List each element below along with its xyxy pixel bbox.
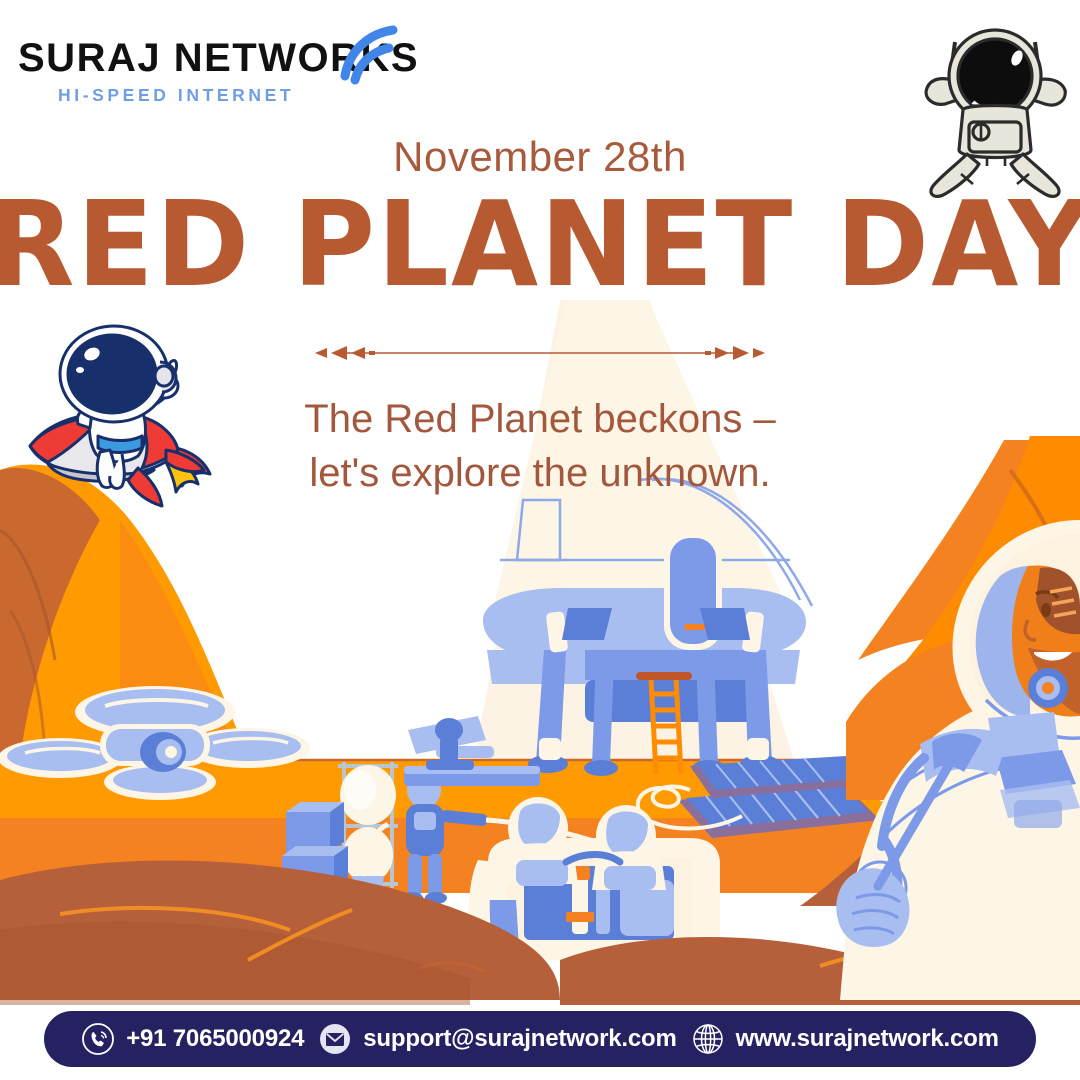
ornamental-divider: [305, 342, 775, 364]
globe-icon: [691, 1022, 725, 1056]
website-url: www.surajnetwork.com: [736, 1025, 999, 1053]
page-title: RED PLANET DAY: [0, 185, 1080, 303]
footer-phone[interactable]: +91 7065000924: [81, 1022, 304, 1056]
contact-footer: +91 7065000924 support@surajnetwork.com: [44, 1011, 1036, 1067]
poster: SURAJ NETWORKS HI-SPEED INTERNET Novembe…: [0, 0, 1080, 1080]
wifi-arcs-icon: [337, 24, 407, 86]
footer-email[interactable]: support@surajnetwork.com: [318, 1022, 676, 1056]
email-address: support@surajnetwork.com: [363, 1025, 676, 1053]
floating-astronaut-icon: [915, 14, 1075, 199]
envelope-icon: [318, 1022, 352, 1056]
phone-number: +91 7065000924: [126, 1025, 304, 1053]
brand-tagline: HI-SPEED INTERNET: [58, 85, 418, 106]
rocket-riding-astronaut-icon: [18, 318, 223, 513]
phone-icon: [81, 1022, 115, 1056]
footer-website[interactable]: www.surajnetwork.com: [691, 1022, 999, 1056]
